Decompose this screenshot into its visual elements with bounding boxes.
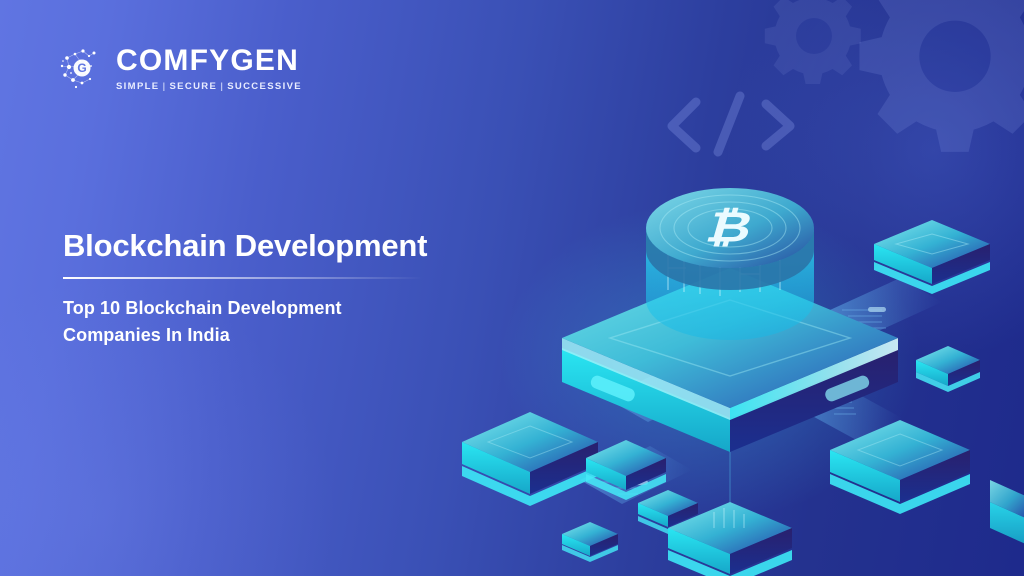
tagline-part-2: SECURE <box>169 81 217 92</box>
block-bottom-left-tiny <box>562 522 618 562</box>
bitcoin-coin: ₿ <box>646 188 814 290</box>
subtitle-line-1: Top 10 Blockchain Development <box>63 295 493 322</box>
tagline-separator: | <box>159 81 169 92</box>
tagline-part-1: SIMPLE <box>116 81 159 92</box>
page-title: Blockchain Development <box>63 228 493 265</box>
tagline-part-3: SUCCESSIVE <box>227 81 302 92</box>
title-divider <box>63 277 423 279</box>
svg-text:G: G <box>77 61 86 75</box>
network-dots-logo-icon: G <box>58 44 108 94</box>
brand-logo[interactable]: G COMFYGEN SIMPLE|SECURE|SUCCESSIVE <box>58 44 302 94</box>
page-subtitle: Top 10 Blockchain Development Companies … <box>63 295 493 350</box>
block-right-upper <box>916 346 980 392</box>
gear-icon <box>850 0 1024 168</box>
logo-tagline: SIMPLE|SECURE|SUCCESSIVE <box>116 81 302 92</box>
tagline-separator: | <box>217 81 227 92</box>
logo-wordmark: COMFYGEN <box>116 46 302 77</box>
isometric-blockchain-illustration: ₿ <box>430 150 1024 576</box>
banner-hero: G COMFYGEN SIMPLE|SECURE|SUCCESSIVE Bloc… <box>0 0 1024 576</box>
headline-block: Blockchain Development Top 10 Blockchain… <box>63 228 493 349</box>
block-bottom-right-edge <box>990 480 1024 546</box>
subtitle-line-2: Companies In India <box>63 322 493 349</box>
gear-icon <box>754 0 874 102</box>
